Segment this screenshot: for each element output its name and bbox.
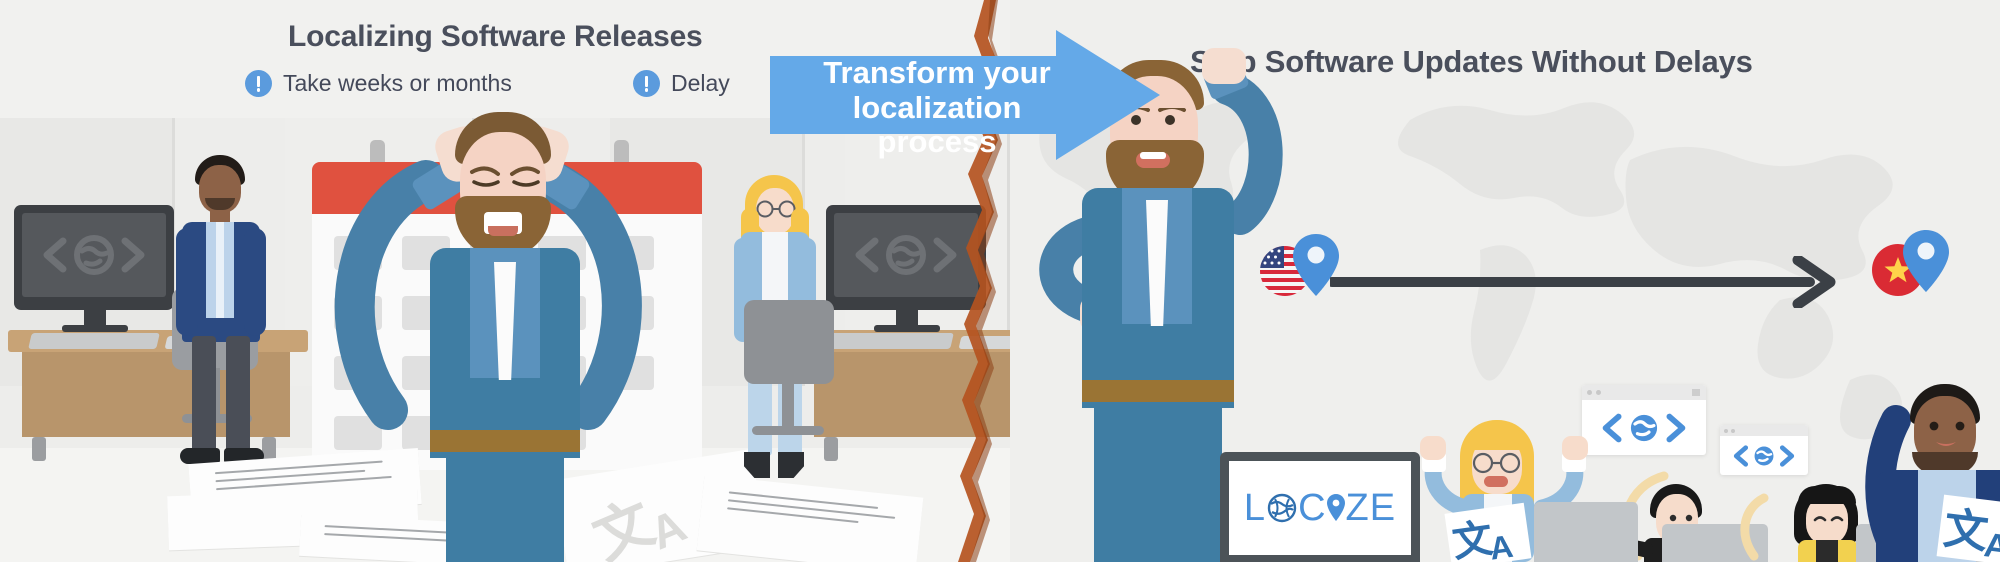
- exclamation-circle-icon: [633, 70, 660, 97]
- browser-card-large: [1582, 385, 1706, 455]
- infographic-canvas: 文 A: [0, 0, 2000, 562]
- chair-2-post: [782, 382, 794, 428]
- bullet-label: Take weeks or months: [283, 70, 512, 97]
- chair-2-base: [752, 426, 824, 435]
- translate-document-icon: 文 A: [1444, 503, 1531, 562]
- banner-line-1: Transform your: [792, 56, 1082, 91]
- code-globe-icon: [1730, 443, 1798, 469]
- keyboard-1: [28, 333, 160, 349]
- map-pin-icon: [1902, 228, 1950, 294]
- map-pin-icon: [1326, 493, 1346, 523]
- exclamation-circle-icon: [245, 70, 272, 97]
- keyboard-2: [824, 333, 954, 349]
- globe-icon: [1267, 493, 1297, 523]
- rightward-arrow-icon: [1330, 256, 1860, 308]
- bullet-label: Delay: [671, 70, 730, 97]
- code-globe-icon: [41, 233, 147, 277]
- code-globe-icon: [1596, 410, 1692, 446]
- locize-logo: L C ZE: [1244, 487, 1396, 530]
- desk-2-leg-left: [824, 437, 838, 461]
- banner-text: Transform your localization process: [792, 56, 1082, 160]
- chair-2-back: [744, 300, 834, 384]
- bullet-delay: Delay: [633, 70, 730, 97]
- browser-card-small: [1720, 425, 1808, 475]
- banner-line-2: localization process: [792, 91, 1082, 160]
- desk-1-leg-left: [32, 437, 46, 461]
- svg-text:A: A: [1487, 528, 1515, 562]
- translate-document-icon: 文 A: [1937, 495, 2000, 562]
- left-panel-title: Localizing Software Releases: [288, 20, 703, 54]
- transform-banner: Transform your localization process: [770, 30, 1160, 160]
- bullet-take-weeks-or-months: Take weeks or months: [245, 70, 512, 97]
